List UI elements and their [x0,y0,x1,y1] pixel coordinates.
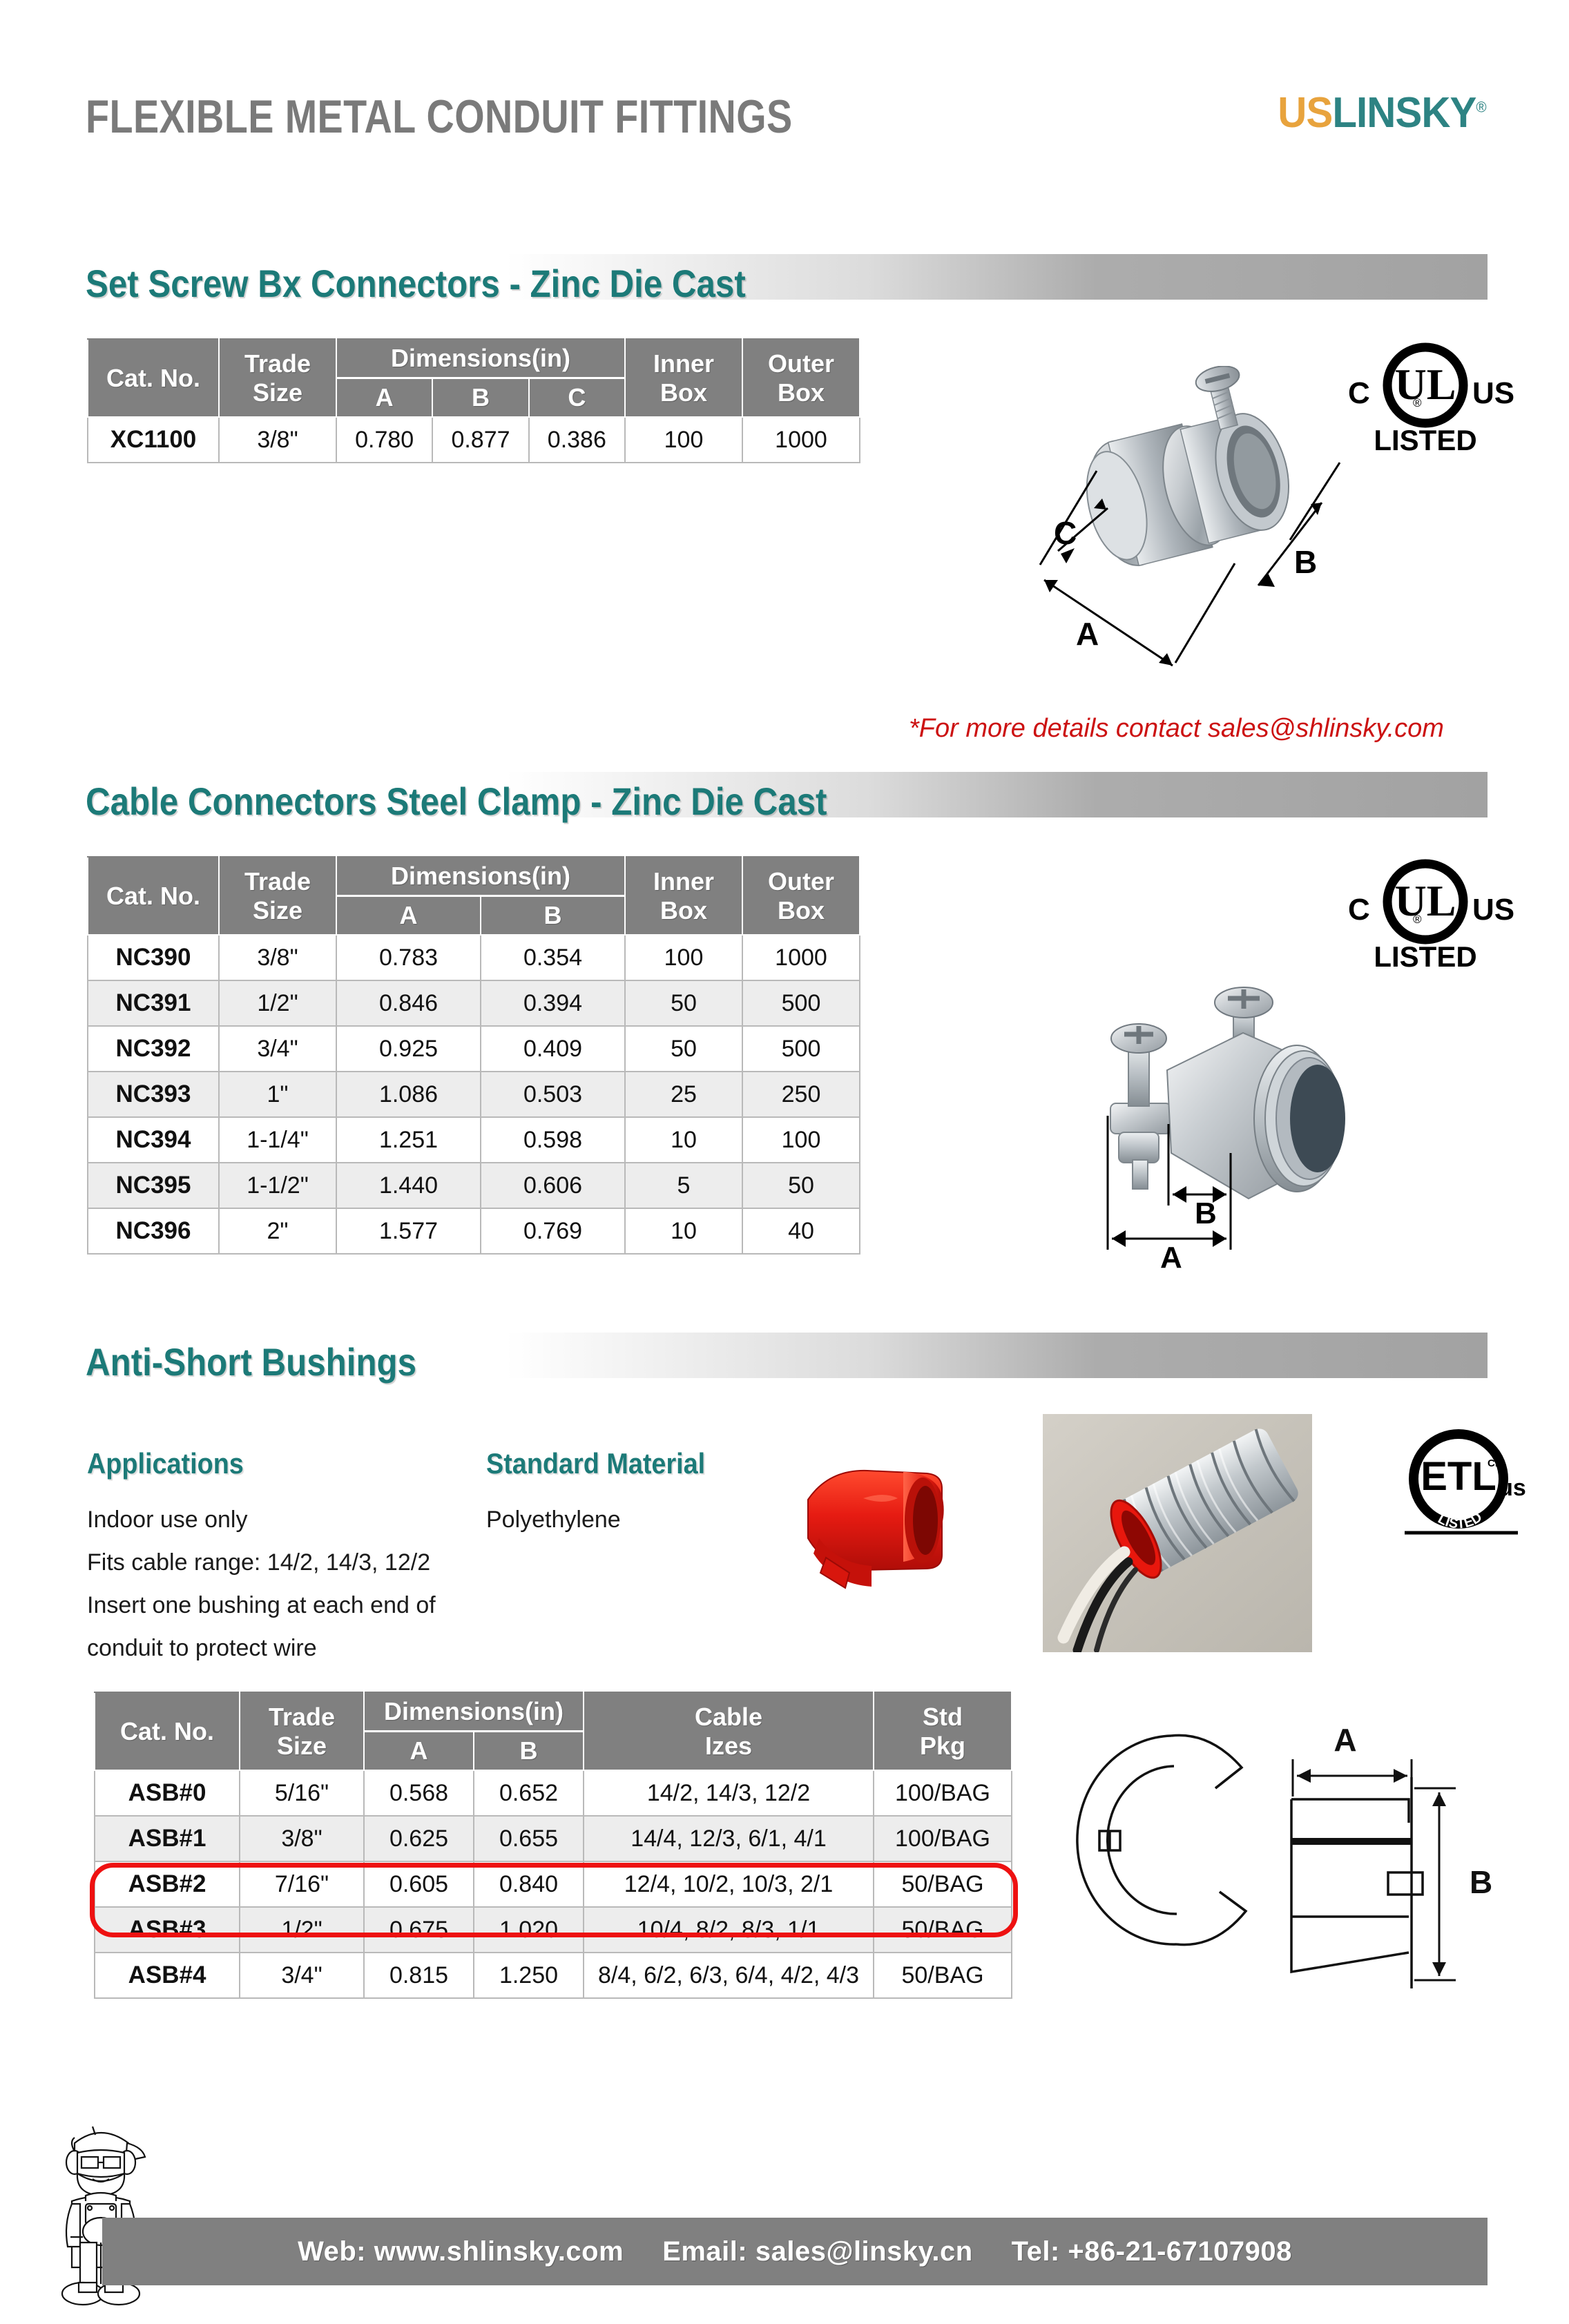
th-trade-size-line2: Size [253,896,302,924]
cell-trade-size: 3/8" [219,417,336,463]
th-dim-a: A [336,896,481,936]
th-cable-sizes-line2: Izes [705,1732,752,1760]
etl-file-number: 5010519 [1395,1563,1569,1585]
cell-dim-b: 0.840 [474,1861,584,1907]
cell-std-pkg: 100/BAG [874,1816,1012,1861]
cell-trade-size: 1-1/4" [219,1117,336,1163]
th-cat-no: Cat. No. [95,1692,240,1770]
svg-text:A: A [1076,616,1099,652]
th-cable-sizes-line1: Cable [695,1703,762,1731]
product-photo-setscrew-connector: A C B [1015,366,1374,684]
th-outer-box: Outer Box [742,857,860,935]
cell-dim-a: 1.086 [336,1072,481,1117]
svg-text:UL: UL [1395,876,1456,925]
cell-outer-box: 250 [742,1072,860,1117]
cert-mark-ul-setscrew: C UL ® US LISTED [1337,340,1517,461]
th-cat-no: Cat. No. [88,857,219,935]
table-row-highlighted: ASB#2 7/16" 0.605 0.840 12/4, 10/2, 10/3… [95,1861,1012,1907]
cell-outer-box: 50 [742,1163,860,1208]
th-dimensions: Dimensions(in) [336,339,625,378]
th-std-pkg-line2: Pkg [920,1732,965,1760]
cell-cat-no: NC396 [88,1208,219,1254]
contact-note: *For more details contact sales@shlinsky… [909,714,1444,744]
cell-outer-box: 1000 [742,417,860,463]
th-dim-b: B [474,1732,584,1771]
table-row: NC392 3/4" 0.925 0.409 50 500 [88,1026,860,1072]
svg-text:®: ® [1413,396,1422,409]
th-inner-box: Inner Box [625,339,742,417]
cell-std-pkg: 100/BAG [874,1770,1012,1816]
cell-cat-no: NC390 [88,935,219,980]
th-trade-size: Trade Size [240,1692,364,1770]
etl-us-text: us [1499,1475,1526,1501]
th-outer-box-line2: Box [778,896,825,924]
cell-cat-no: ASB#2 [95,1861,240,1907]
th-dimensions: Dimensions(in) [336,857,625,896]
th-cable-sizes: Cable Izes [584,1692,874,1770]
svg-text:B: B [1195,1197,1217,1230]
th-std-pkg: Std Pkg [874,1692,1012,1770]
cell-dim-b: 1.250 [474,1953,584,1998]
svg-text:C: C [1054,515,1077,551]
table-setscrew-head: Cat. No. Trade Size Dimensions(in) Inner… [88,339,860,417]
cell-dim-b: 0.598 [481,1117,625,1163]
th-inner-box-line1: Inner [653,867,714,895]
th-dimensions: Dimensions(in) [364,1692,584,1732]
cell-trade-size: 1-1/2" [219,1163,336,1208]
heading-standard-material: Standard Material [486,1447,705,1480]
th-outer-box: Outer Box [742,339,860,417]
cell-trade-size: 1/2" [240,1907,364,1953]
cell-dim-a: 1.251 [336,1117,481,1163]
section-title-cableclamp: Cable Connectors Steel Clamp - Zinc Die … [86,779,827,824]
cell-trade-size: 7/16" [240,1861,364,1907]
footer-tel[interactable]: Tel: +86-21-67107908 [1012,2236,1292,2267]
cell-dim-b: 0.606 [481,1163,625,1208]
svg-text:CM: CM [1488,1458,1503,1469]
cell-dim-a: 0.783 [336,935,481,980]
cell-dim-b: 0.769 [481,1208,625,1254]
cell-cat-no: ASB#0 [95,1770,240,1816]
cell-outer-box: 1000 [742,935,860,980]
th-inner-box-line2: Box [660,896,707,924]
datasheet-page: FLEXIBLE METAL CONDUIT FITTINGS USLINSKY… [0,0,1569,2324]
table-row: NC394 1-1/4" 1.251 0.598 10 100 [88,1117,860,1163]
th-trade-size-line1: Trade [244,867,311,895]
cell-dim-b: 0.354 [481,935,625,980]
cell-cat-no: ASB#4 [95,1953,240,1998]
th-inner-box-line1: Inner [653,349,714,378]
cell-cable-sizes: 12/4, 10/2, 10/3, 2/1 [584,1861,874,1907]
ul-c-letter: C [1348,376,1370,410]
svg-text:®: ® [1413,913,1422,926]
cell-cat-no: NC392 [88,1026,219,1072]
cell-dim-b: 0.655 [474,1816,584,1861]
th-trade-size: Trade Size [219,857,336,935]
product-photo-steel-clamp-connector: B A [1077,946,1423,1270]
cell-outer-box: 40 [742,1208,860,1254]
th-dim-b: B [481,896,625,936]
table-row: XC1100 3/8" 0.780 0.877 0.386 100 1000 [88,417,860,463]
technical-drawing-bushing: A B [1036,1685,1492,1995]
ul-listed-text: LISTED [1374,424,1476,456]
cell-dim-a: 0.568 [364,1770,474,1816]
applications-line-3: Insert one bushing at each end of [87,1592,436,1619]
cell-dim-b: 1.020 [474,1907,584,1953]
cell-cat-no: ASB#3 [95,1907,240,1953]
installation-photo-bushing-in-conduit [1043,1414,1312,1652]
th-trade-size-line2: Size [277,1732,327,1760]
cell-inner-box: 5 [625,1163,742,1208]
cell-trade-size: 5/16" [240,1770,364,1816]
table-setscrew-body: XC1100 3/8" 0.780 0.877 0.386 100 1000 [88,417,860,463]
brand-logo-us: US [1278,89,1333,137]
table-antishort: Cat. No. Trade Size Dimensions(in) Cable… [94,1692,1012,1999]
applications-line-1: Indoor use only [87,1507,248,1533]
cell-dim-b: 0.652 [474,1770,584,1816]
cell-dim-a: 0.925 [336,1026,481,1072]
etl-letters: ETL [1421,1454,1496,1499]
etl-intertek-label: Intertek [1395,1538,1569,1560]
heading-applications: Applications [87,1447,244,1480]
svg-text:A: A [1334,1722,1356,1758]
standard-material-value: Polyethylene [486,1507,621,1533]
table-antishort-head: Cat. No. Trade Size Dimensions(in) Cable… [95,1692,1012,1770]
table-row: NC395 1-1/2" 1.440 0.606 5 50 [88,1163,860,1208]
footer-bar: Web: www.shlinsky.com Email: sales@linsk… [102,2218,1488,2285]
cell-outer-box: 500 [742,1026,860,1072]
table-cableclamp-head: Cat. No. Trade Size Dimensions(in) Inner… [88,857,860,935]
cell-dim-b: 0.394 [481,980,625,1026]
cell-cat-no: ASB#1 [95,1816,240,1861]
th-outer-box-line1: Outer [768,867,834,895]
table-row: NC391 1/2" 0.846 0.394 50 500 [88,980,860,1026]
cell-cable-sizes: 14/4, 12/3, 6/1, 4/1 [584,1816,874,1861]
cell-dim-a: 0.605 [364,1861,474,1907]
footer-web[interactable]: Web: www.shlinsky.com [298,2236,624,2267]
cell-cat-no: NC394 [88,1117,219,1163]
th-inner-box: Inner Box [625,857,742,935]
cell-inner-box: 10 [625,1117,742,1163]
cell-dim-b: 0.409 [481,1026,625,1072]
cell-trade-size: 3/4" [219,1026,336,1072]
svg-text:UL: UL [1395,360,1456,409]
table-row: NC396 2" 1.577 0.769 10 40 [88,1208,860,1254]
cell-inner-box: 25 [625,1072,742,1117]
th-trade-size-line1: Trade [244,349,311,378]
th-outer-box-line1: Outer [768,349,834,378]
th-dim-b: B [432,378,528,418]
table-cableclamp: Cat. No. Trade Size Dimensions(in) Inner… [87,856,860,1255]
cell-inner-box: 50 [625,1026,742,1072]
cell-inner-box: 50 [625,980,742,1026]
section-title-setscrew: Set Screw Bx Connectors - Zinc Die Cast [86,261,746,306]
cell-std-pkg: 50/BAG [874,1861,1012,1907]
cell-cat-no: NC395 [88,1163,219,1208]
svg-text:US: US [1472,893,1514,927]
brand-logo-linsky: LINSKY [1333,89,1476,137]
svg-text:B: B [1470,1864,1492,1900]
th-dim-c: C [529,378,625,418]
table-row: ASB#3 1/2" 0.675 1.020 10/4, 8/2, 8/3, 1… [95,1907,1012,1953]
cell-cable-sizes: 8/4, 6/2, 6/3, 6/4, 4/2, 4/3 [584,1953,874,1998]
cell-cat-no: XC1100 [88,417,219,463]
svg-text:C: C [1348,893,1370,927]
table-setscrew: Cat. No. Trade Size Dimensions(in) Inner… [87,338,860,463]
cell-trade-size: 3/8" [219,935,336,980]
cell-dim-a: 1.577 [336,1208,481,1254]
cell-dim-a: 0.846 [336,980,481,1026]
th-trade-size: Trade Size [219,339,336,417]
cell-dim-c: 0.386 [529,417,625,463]
applications-line-2: Fits cable range: 14/2, 14/3, 12/2 [87,1549,430,1576]
cell-std-pkg: 50/BAG [874,1953,1012,1998]
cell-inner-box: 100 [625,417,742,463]
svg-text:B: B [1294,544,1317,580]
th-std-pkg-line1: Std [923,1703,963,1731]
cell-std-pkg: 50/BAG [874,1907,1012,1953]
table-antishort-body: ASB#0 5/16" 0.568 0.652 14/2, 14/3, 12/2… [95,1770,1012,1998]
th-dim-a: A [364,1732,474,1771]
cell-outer-box: 100 [742,1117,860,1163]
cell-dim-a: 0.815 [364,1953,474,1998]
cell-dim-a: 1.440 [336,1163,481,1208]
product-photo-red-bushing [787,1457,994,1595]
cell-inner-box: 10 [625,1208,742,1254]
table-row: ASB#0 5/16" 0.568 0.652 14/2, 14/3, 12/2… [95,1770,1012,1816]
th-inner-box-line2: Box [660,378,707,407]
table-row: ASB#4 3/4" 0.815 1.250 8/4, 6/2, 6/3, 6/… [95,1953,1012,1998]
table-row: NC393 1" 1.086 0.503 25 250 [88,1072,860,1117]
table-row: NC390 3/8" 0.783 0.354 100 1000 [88,935,860,980]
cell-trade-size: 2" [219,1208,336,1254]
svg-text:A: A [1160,1241,1182,1270]
cell-cat-no: NC393 [88,1072,219,1117]
th-dim-a: A [336,378,432,418]
cell-dim-b: 0.877 [432,417,528,463]
cell-dim-a: 0.675 [364,1907,474,1953]
th-trade-size-line2: Size [253,378,302,407]
applications-line-4: conduit to protect wire [87,1635,317,1662]
cell-outer-box: 500 [742,980,860,1026]
brand-logo: USLINSKY® [1278,88,1486,137]
cell-cat-no: NC391 [88,980,219,1026]
cell-dim-a: 0.625 [364,1816,474,1861]
cell-trade-size: 3/8" [240,1816,364,1861]
page-title: FLEXIBLE METAL CONDUIT FITTINGS [86,90,793,144]
footer-email[interactable]: Email: sales@linsky.cn [662,2236,972,2267]
cell-dim-b: 0.503 [481,1072,625,1117]
th-cat-no: Cat. No. [88,339,219,417]
table-row: ASB#1 3/8" 0.625 0.655 14/4, 12/3, 6/1, … [95,1816,1012,1861]
cell-trade-size: 1" [219,1072,336,1117]
cell-dim-a: 0.780 [336,417,432,463]
th-outer-box-line2: Box [778,378,825,407]
cell-trade-size: 1/2" [219,980,336,1026]
cell-cable-sizes: 14/2, 14/3, 12/2 [584,1770,874,1816]
th-trade-size-line1: Trade [269,1703,335,1731]
cell-inner-box: 100 [625,935,742,980]
cell-cable-sizes: 10/4, 8/2, 8/3, 1/1 [584,1907,874,1953]
table-cableclamp-body: NC390 3/8" 0.783 0.354 100 1000 NC391 1/… [88,935,860,1254]
cell-trade-size: 3/4" [240,1953,364,1998]
document-header: FLEXIBLE METAL CONDUIT FITTINGS USLINSKY… [0,90,1569,166]
brand-logo-registered: ® [1476,98,1486,115]
ul-us-letters: US [1472,376,1514,410]
section-title-antishort: Anti-Short Bushings [86,1339,416,1384]
